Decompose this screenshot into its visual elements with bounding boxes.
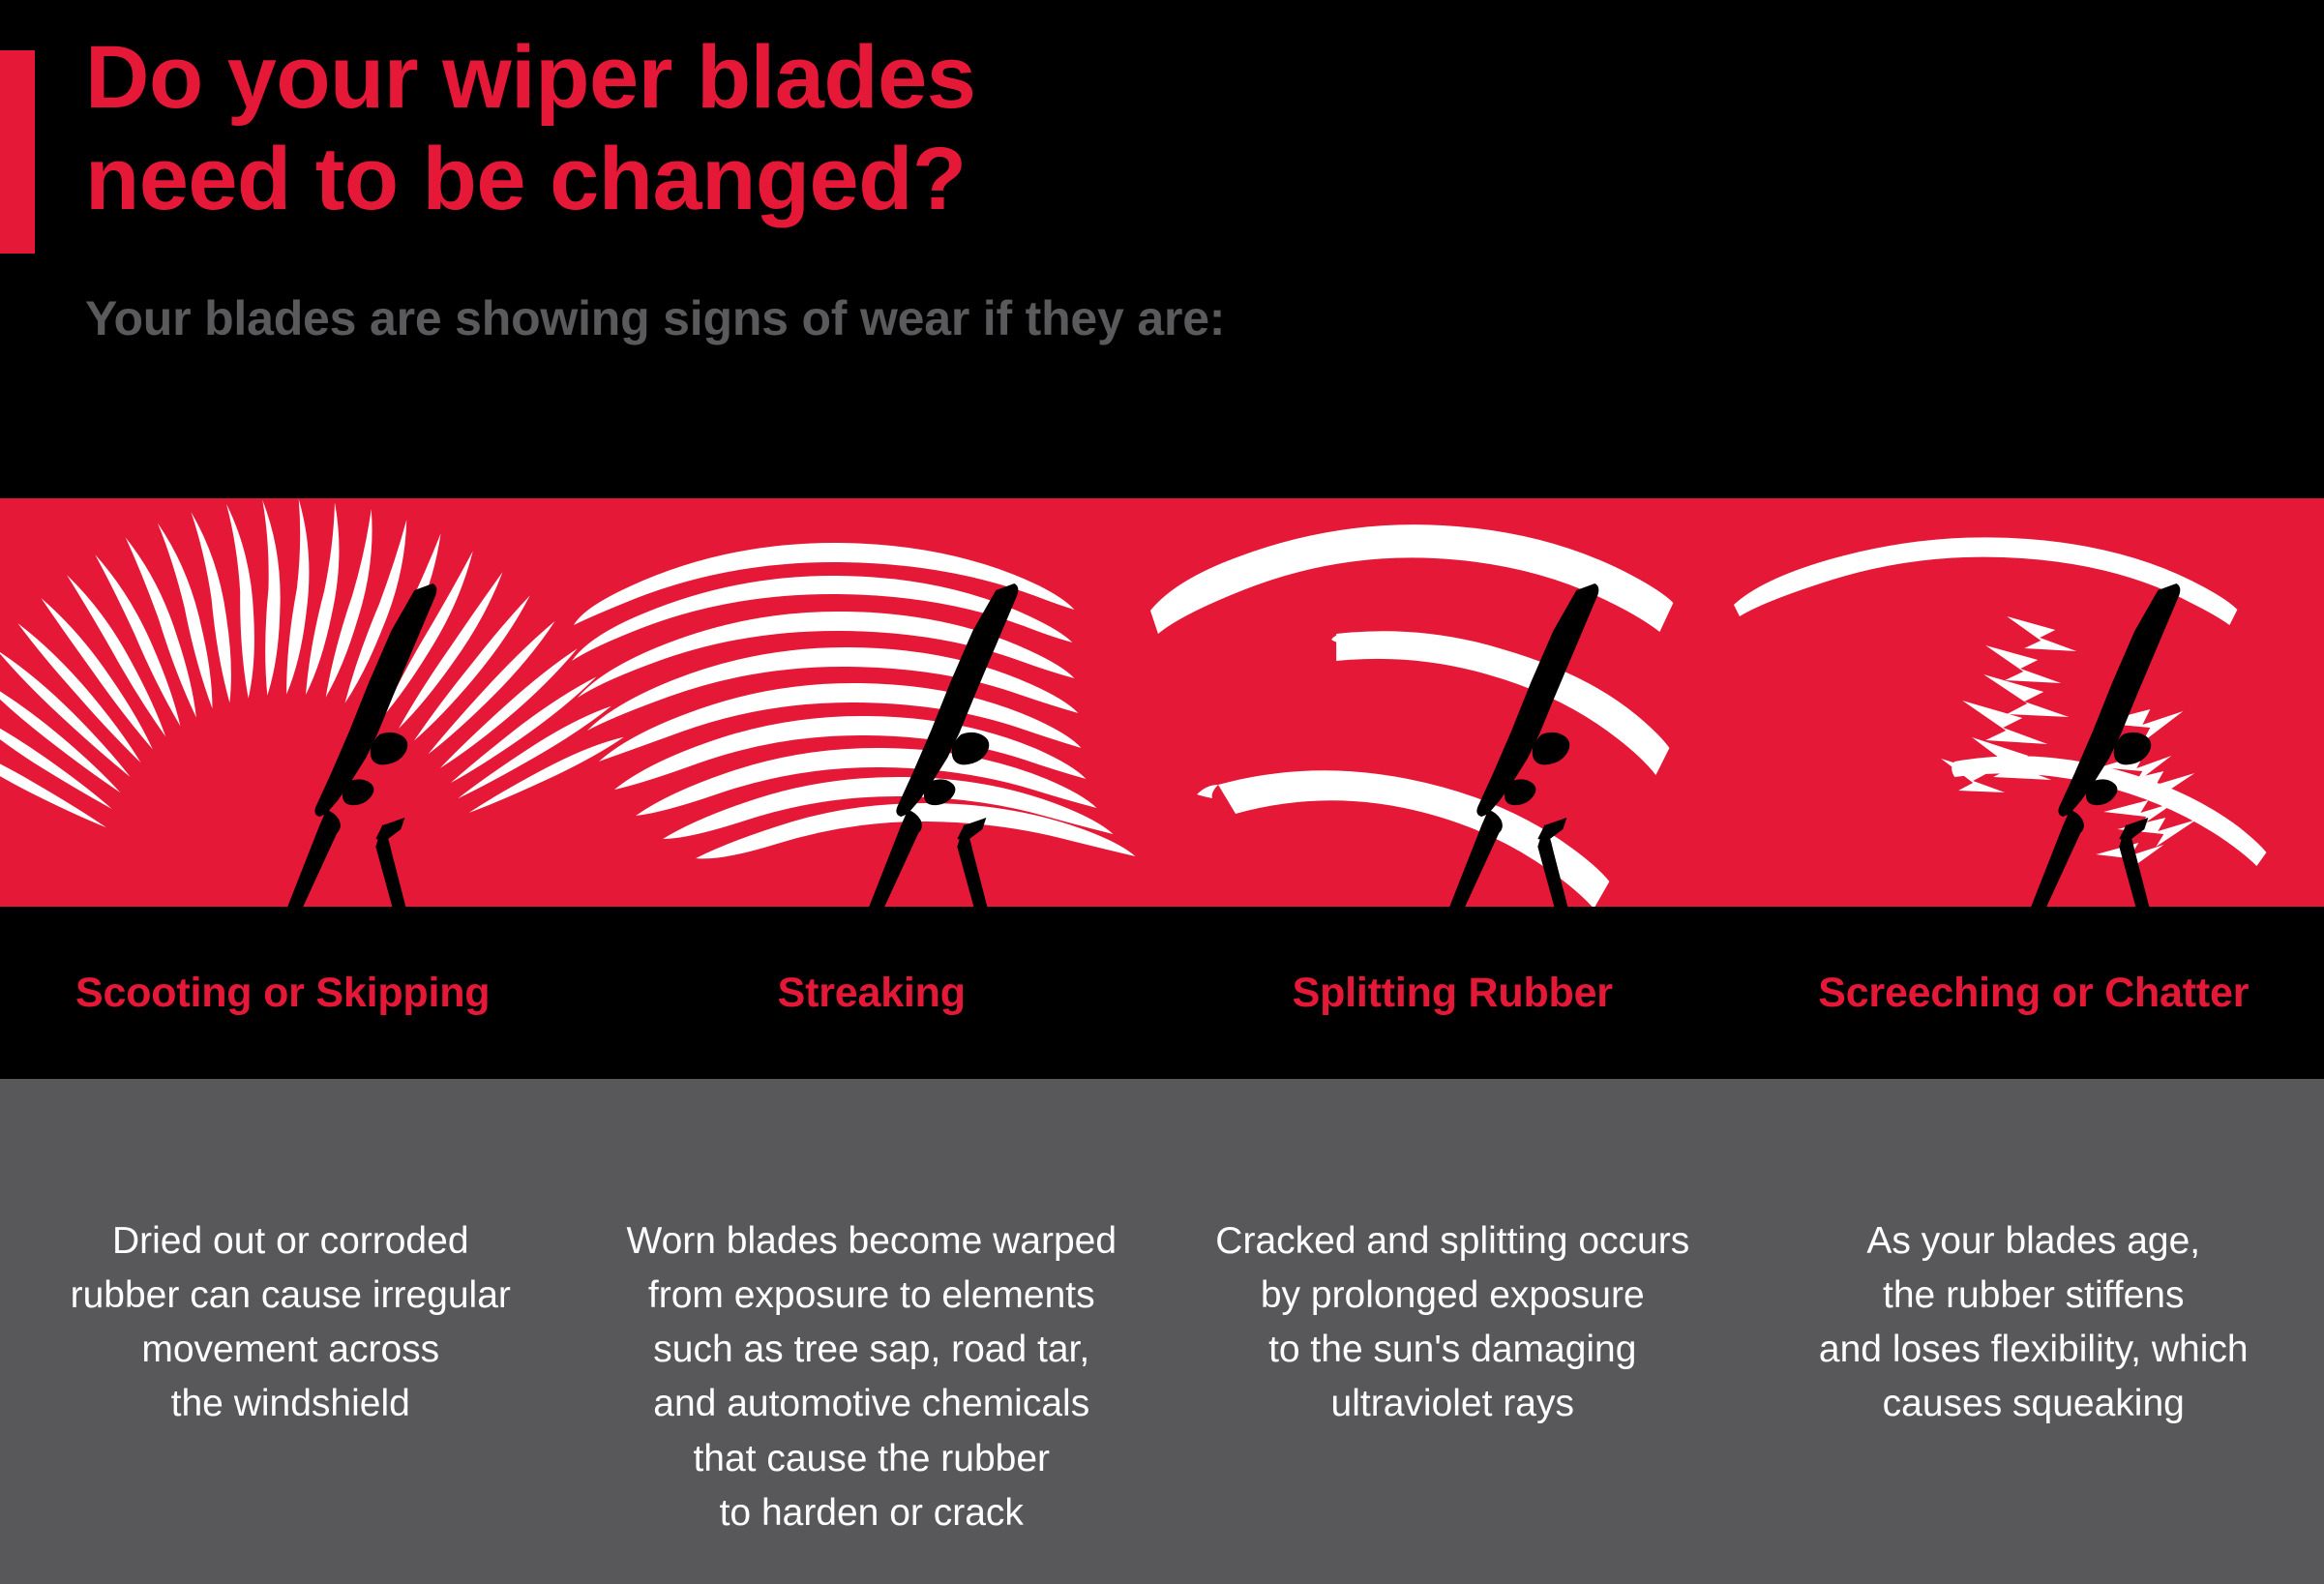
illustration-cell-2 [1162, 498, 1743, 907]
wiper-streaking-arcs-icon [581, 498, 1163, 907]
description-splitting-rubber: Cracked and splitting occurs by prolonge… [1162, 1079, 1743, 1584]
category-label-splitting-rubber: Splitting Rubber [1162, 970, 1743, 1017]
illustration-cell-0 [0, 498, 581, 907]
description-screeching-or-chatter: As your blades age, the rubber stiffens … [1743, 1079, 2324, 1584]
label-band: Scooting or Skipping Streaking Splitting… [0, 907, 2324, 1079]
description-band: Dried out or corroded rubber can cause i… [0, 1079, 2324, 1584]
accent-bar [0, 50, 35, 254]
label-row: Scooting or Skipping Streaking Splitting… [0, 907, 2324, 1079]
page-subtitle: Your blades are showing signs of wear if… [85, 290, 1225, 346]
header-section: Do your wiper blades need to be changed?… [0, 0, 2324, 498]
description-scooting-or-skipping: Dried out or corroded rubber can cause i… [0, 1079, 581, 1584]
wiper-blade-icon [2031, 583, 2180, 907]
wiper-screeching-lightning-icon [1743, 498, 2324, 907]
description-streaking: Worn blades become warped from exposure … [581, 1079, 1163, 1584]
category-label-streaking: Streaking [581, 970, 1163, 1017]
description-row: Dried out or corroded rubber can cause i… [0, 1079, 2324, 1584]
illustration-cell-3 [1743, 498, 2324, 907]
illustration-row [0, 498, 2324, 907]
illustration-band [0, 498, 2324, 907]
wiper-split-rubber-arcs-icon [1162, 498, 1743, 907]
wiper-blade-icon [287, 583, 436, 907]
illustration-cell-1 [581, 498, 1163, 907]
category-label-scooting-or-skipping: Scooting or Skipping [0, 970, 581, 1017]
wiper-skipping-streaks-icon [0, 498, 581, 907]
category-label-screeching-or-chatter: Screeching or Chatter [1743, 970, 2324, 1017]
page-title: Do your wiper blades need to be changed? [85, 27, 1633, 230]
